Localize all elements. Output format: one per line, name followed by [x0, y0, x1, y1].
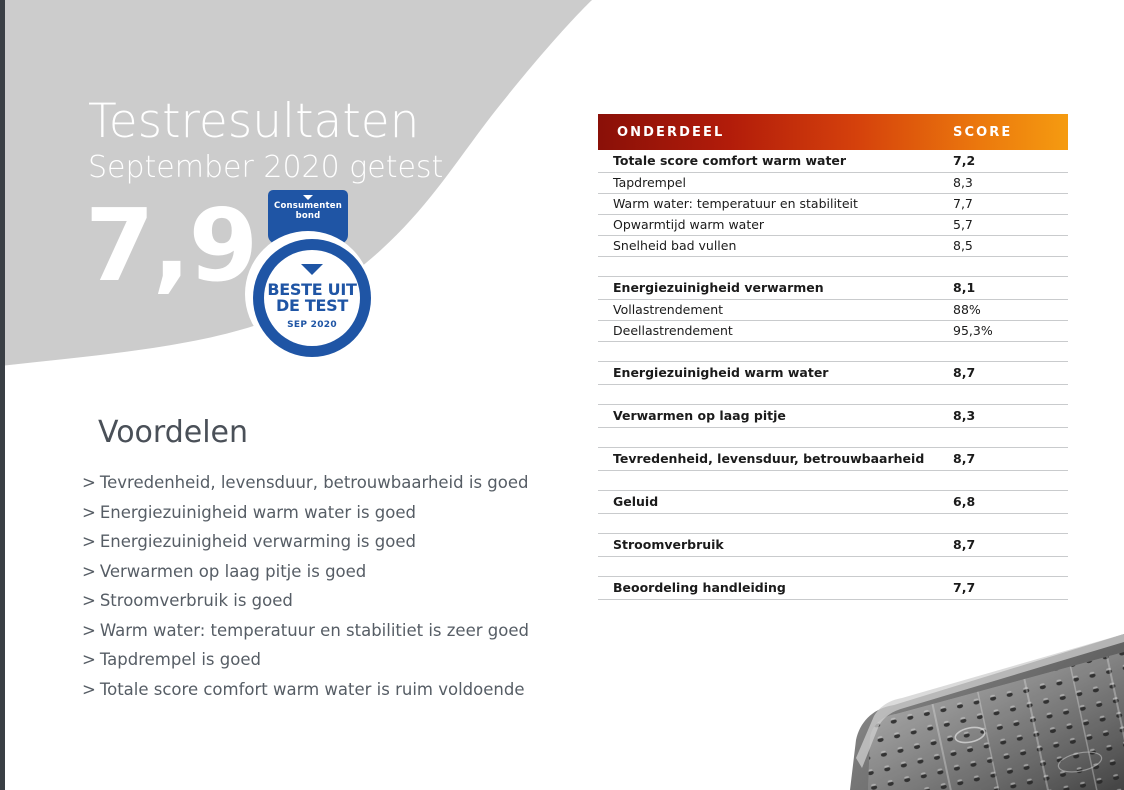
row-label: Beoordeling handleiding: [613, 580, 786, 596]
table-row: Deellastrendement95,3%: [598, 321, 1068, 342]
table-row: Tapdrempel8,3: [598, 173, 1068, 194]
award-label-line2: DE TEST: [264, 298, 360, 314]
voordelen-item-label: Tevredenheid, levensduur, betrouwbaarhei…: [100, 473, 529, 492]
table-group-separator: [598, 471, 1068, 491]
bullet-marker-icon: >: [82, 562, 96, 581]
voordelen-item: >Stroomverbruik is goed: [82, 586, 529, 616]
brand-name-line1: Consumenten: [268, 201, 348, 211]
table-row: Warm water: temperatuur en stabiliteit7,…: [598, 194, 1068, 215]
table-row: Stroomverbruik8,7: [598, 534, 1068, 557]
left-edge-bar: [0, 0, 5, 790]
row-score: 5,7: [953, 217, 973, 233]
award-seal: BESTE UIT DE TEST SEP 2020: [245, 231, 371, 357]
voordelen-item-label: Totale score comfort warm water is ruim …: [100, 680, 525, 699]
bullet-marker-icon: >: [82, 591, 96, 610]
row-label: Snelheid bad vullen: [613, 238, 736, 254]
table-row: Totale score comfort warm water7,2: [598, 150, 1068, 173]
row-label: Geluid: [613, 494, 658, 510]
award-seal-inner: BESTE UIT DE TEST SEP 2020: [264, 250, 360, 346]
table-row: Energiezuinigheid verwarmen8,1: [598, 277, 1068, 300]
row-score: 8,3: [953, 175, 973, 191]
table-group-separator: [598, 385, 1068, 405]
bullet-marker-icon: >: [82, 650, 96, 669]
award-date: SEP 2020: [264, 320, 360, 330]
row-label: Tapdrempel: [613, 175, 686, 191]
score-table-header: ONDERDEEL SCORE: [598, 114, 1068, 150]
page-subtitle: September 2020 getest: [88, 149, 443, 187]
bullet-marker-icon: >: [82, 473, 96, 492]
score-table: ONDERDEEL SCORE Totale score comfort war…: [598, 114, 1068, 600]
row-label: Deellastrendement: [613, 323, 733, 339]
voordelen-item: >Verwarmen op laag pitje is goed: [82, 557, 529, 587]
table-row: Verwarmen op laag pitje8,3: [598, 405, 1068, 428]
voordelen-item: >Totale score comfort warm water is ruim…: [82, 675, 529, 705]
shower-head-photo: [770, 590, 1124, 790]
row-label: Stroomverbruik: [613, 537, 724, 553]
row-label: Totale score comfort warm water: [613, 153, 846, 169]
consumentenbond-award-badge: Consumenten bond BESTE UIT DE TEST SEP 2…: [245, 190, 381, 362]
table-group-separator: [598, 342, 1068, 362]
row-score: 8,3: [953, 408, 975, 424]
score-table-body: Totale score comfort warm water7,2Tapdre…: [598, 150, 1068, 600]
voordelen-item-label: Tapdrempel is goed: [100, 650, 261, 669]
row-label: Vollastrendement: [613, 302, 723, 318]
table-row: Tevredenheid, levensduur, betrouwbaarhei…: [598, 448, 1068, 471]
column-header-onderdeel: ONDERDEEL: [617, 125, 724, 140]
page-title: Testresultaten: [88, 95, 443, 149]
column-header-score: SCORE: [953, 125, 1012, 140]
award-seal-ring: BESTE UIT DE TEST SEP 2020: [253, 239, 371, 357]
voordelen-item: >Tapdrempel is goed: [82, 645, 529, 675]
voordelen-item: >Energiezuinigheid verwarming is goed: [82, 527, 529, 557]
table-row: Opwarmtijd warm water5,7: [598, 215, 1068, 236]
voordelen-heading: Voordelen: [98, 415, 248, 451]
row-score: 7,7: [953, 196, 973, 212]
triangle-down-icon: [301, 264, 323, 275]
row-score: 8,7: [953, 451, 975, 467]
voordelen-item-label: Stroomverbruik is goed: [100, 591, 293, 610]
bullet-marker-icon: >: [82, 532, 96, 551]
table-group-separator: [598, 557, 1068, 577]
voordelen-list: >Tevredenheid, levensduur, betrouwbaarhe…: [82, 468, 529, 704]
row-score: 88%: [953, 302, 981, 318]
row-score: 8,7: [953, 365, 975, 381]
triangle-down-icon: [303, 195, 313, 200]
row-label: Opwarmtijd warm water: [613, 217, 764, 233]
bullet-marker-icon: >: [82, 503, 96, 522]
table-group-separator: [598, 428, 1068, 448]
row-score: 7,2: [953, 153, 975, 169]
overall-score: 7,9: [85, 196, 256, 296]
row-label: Warm water: temperatuur en stabiliteit: [613, 196, 858, 212]
bullet-marker-icon: >: [82, 680, 96, 699]
voordelen-item-label: Energiezuinigheid verwarming is goed: [100, 532, 416, 551]
row-label: Energiezuinigheid verwarmen: [613, 280, 824, 296]
row-score: 8,7: [953, 537, 975, 553]
voordelen-item-label: Energiezuinigheid warm water is goed: [100, 503, 416, 522]
table-group-separator: [598, 514, 1068, 534]
row-score: 8,5: [953, 238, 973, 254]
voordelen-item: >Energiezuinigheid warm water is goed: [82, 498, 529, 528]
voordelen-item: >Warm water: temperatuur en stabilitiet …: [82, 616, 529, 646]
row-label: Energiezuinigheid warm water: [613, 365, 828, 381]
table-row: Snelheid bad vullen8,5: [598, 236, 1068, 257]
row-score: 7,7: [953, 580, 975, 596]
hero-headline: Testresultaten September 2020 getest: [88, 95, 443, 187]
voordelen-item-label: Verwarmen op laag pitje is goed: [100, 562, 366, 581]
table-row: Beoordeling handleiding7,7: [598, 577, 1068, 600]
row-label: Tevredenheid, levensduur, betrouwbaarhei…: [613, 451, 924, 467]
table-group-separator: [598, 257, 1068, 277]
table-row: Vollastrendement88%: [598, 300, 1068, 321]
row-score: 6,8: [953, 494, 975, 510]
bullet-marker-icon: >: [82, 621, 96, 640]
voordelen-item-label: Warm water: temperatuur en stabilitiet i…: [100, 621, 529, 640]
voordelen-item: >Tevredenheid, levensduur, betrouwbaarhe…: [82, 468, 529, 498]
table-row: Energiezuinigheid warm water8,7: [598, 362, 1068, 385]
table-row: Geluid6,8: [598, 491, 1068, 514]
row-label: Verwarmen op laag pitje: [613, 408, 786, 424]
page-root: Testresultaten September 2020 getest 7,9…: [0, 0, 1124, 790]
row-score: 95,3%: [953, 323, 993, 339]
row-score: 8,1: [953, 280, 975, 296]
brand-name-line2: bond: [268, 211, 348, 221]
